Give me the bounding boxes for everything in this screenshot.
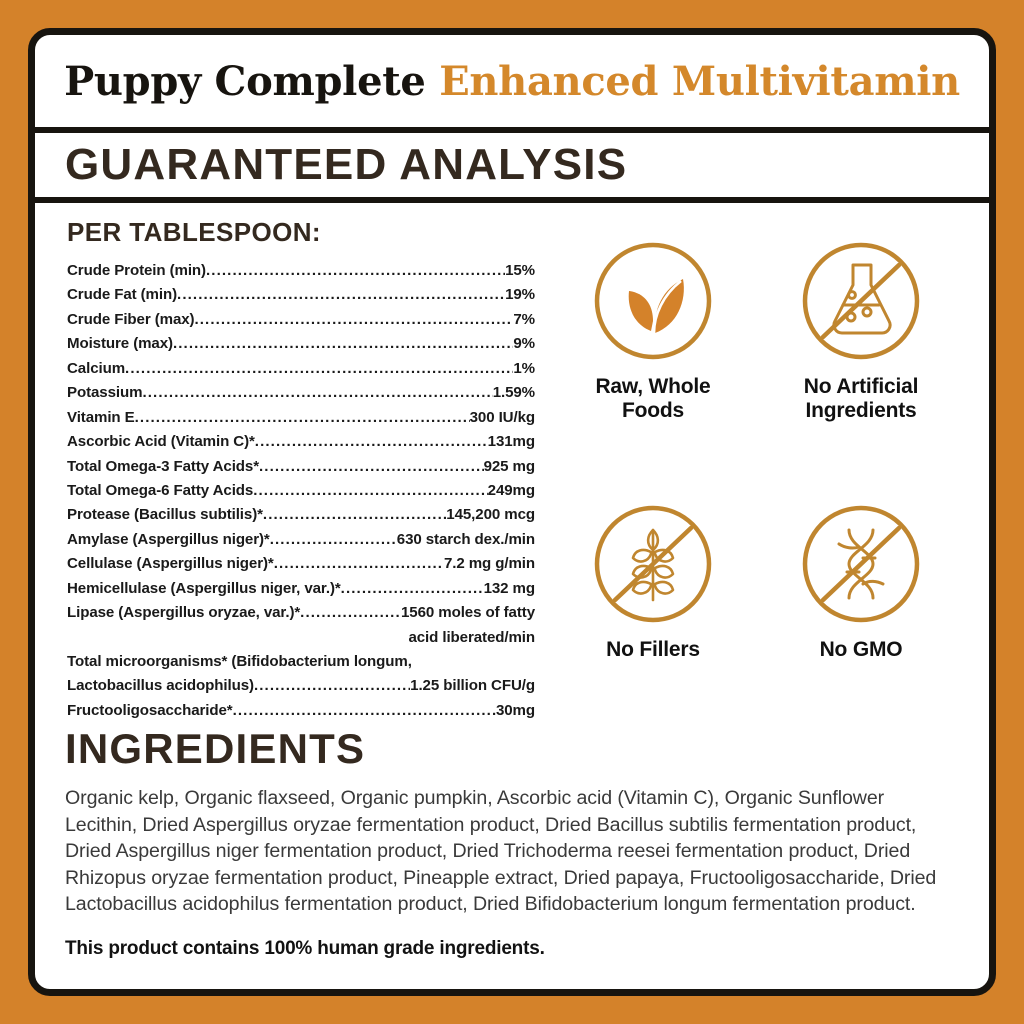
nutrient-name: Lactobacillus acidophilus) xyxy=(67,674,254,698)
fructooligosaccharide-row: Fructooligosaccharide*..................… xyxy=(67,699,535,723)
dot-leader: ........................................… xyxy=(300,601,401,625)
nutrient-panel: PER TABLESPOON: Crude Protein (min).....… xyxy=(35,217,535,723)
nutrient-name: Potassium xyxy=(67,381,142,405)
nutrient-value: 19% xyxy=(505,283,535,307)
badge-no-gmo: No GMO xyxy=(757,502,965,723)
nutrient-name: Cellulase (Aspergillus niger)* xyxy=(67,552,274,576)
nutrient-value: 132 mg xyxy=(484,577,535,601)
title-primary-text: Puppy Complete xyxy=(64,58,425,105)
no-flask-icon xyxy=(799,239,923,363)
nutrient-row: Lipase (Aspergillus oryzae, var.)*......… xyxy=(67,601,535,625)
feature-badge-grid: Raw, Whole Foods No Artificial Ingredien… xyxy=(535,217,989,723)
dot-leader: ........................................… xyxy=(177,283,505,307)
guaranteed-analysis-heading: GUARANTEED ANALYSIS xyxy=(65,140,627,190)
dot-leader: ........................................… xyxy=(125,357,513,381)
nutrient-row: Protease (Bacillus subtilis)*...........… xyxy=(67,503,535,527)
dot-leader: ........................................… xyxy=(135,406,470,430)
dot-leader: ........................................… xyxy=(270,528,397,552)
nutrient-row: Total Omega-6 Fatty Acids...............… xyxy=(67,479,535,503)
nutrient-value: 131mg xyxy=(488,430,535,454)
nutrient-value: 145,200 mcg xyxy=(446,503,535,527)
badge-no-fillers: No Fillers xyxy=(549,502,757,723)
dot-leader: ........................................… xyxy=(206,259,505,283)
guaranteed-analysis-bar: GUARANTEED ANALYSIS xyxy=(35,133,989,203)
ingredients-section: INGREDIENTS Organic kelp, Organic flaxse… xyxy=(35,723,989,959)
nutrient-name: Lipase (Aspergillus oryzae, var.)* xyxy=(67,601,300,625)
nutrient-value: 1560 moles of fatty xyxy=(401,601,535,625)
nutrient-row: Moisture (max)..........................… xyxy=(67,332,535,356)
nutrient-value: 15% xyxy=(505,259,535,283)
nutrient-name: Calcium xyxy=(67,357,125,381)
nutrient-name: Fructooligosaccharide* xyxy=(67,699,233,723)
nutrient-value: 7% xyxy=(513,308,535,332)
nutrient-row: Total Omega-3 Fatty Acids*..............… xyxy=(67,455,535,479)
nutrient-value: 7.2 mg g/min xyxy=(444,552,535,576)
analysis-body: PER TABLESPOON: Crude Protein (min).....… xyxy=(35,203,989,723)
nutrient-value: 1% xyxy=(513,357,535,381)
dot-leader: ........................................… xyxy=(173,332,513,356)
nutrient-name: Total Omega-6 Fatty Acids xyxy=(67,479,253,503)
badge-label: No Fillers xyxy=(606,638,700,662)
dot-leader: ........................................… xyxy=(254,674,410,698)
ingredients-heading: INGREDIENTS xyxy=(65,725,959,773)
product-title-bar: Puppy Complete Enhanced Multivitamin xyxy=(35,35,989,133)
dot-leader: ........................................… xyxy=(255,430,488,454)
nutrient-name: Crude Fiber (max) xyxy=(67,308,194,332)
dot-leader: ........................................… xyxy=(341,577,484,601)
nutrient-name: Vitamin E xyxy=(67,406,135,430)
serving-basis-label: PER TABLESPOON: xyxy=(67,217,535,248)
page-title: Puppy Complete Enhanced Multivitamin xyxy=(64,58,960,105)
nutrient-row: Ascorbic Acid (Vitamin C)*..............… xyxy=(67,430,535,454)
nutrient-value: 925 mg xyxy=(484,455,535,479)
badge-label: No GMO xyxy=(820,638,903,662)
nutrient-name: Hemicellulase (Aspergillus niger, var.)* xyxy=(67,577,341,601)
nutrient-row: Potassium...............................… xyxy=(67,381,535,405)
nutrient-row: Vitamin E...............................… xyxy=(67,406,535,430)
supplement-label-card: Puppy Complete Enhanced Multivitamin GUA… xyxy=(28,28,996,996)
nutrient-value: 630 starch dex./min xyxy=(397,528,535,552)
badge-label: Raw, Whole Foods xyxy=(595,375,710,422)
nutrient-value: 30mg xyxy=(496,699,535,723)
nutrient-name: Ascorbic Acid (Vitamin C)* xyxy=(67,430,255,454)
microorganisms-line-1: Total microorganisms* (Bifidobacterium l… xyxy=(67,650,535,674)
nutrient-value: 1.25 billion CFU/g xyxy=(410,674,535,698)
dot-leader: ........................................… xyxy=(233,699,496,723)
nutrient-name: Protease (Bacillus subtilis)* xyxy=(67,503,263,527)
human-grade-note: This product contains 100% human grade i… xyxy=(65,938,959,960)
nutrient-value: 9% xyxy=(513,332,535,356)
nutrient-row: Hemicellulase (Aspergillus niger, var.)*… xyxy=(67,577,535,601)
badge-label: No Artificial Ingredients xyxy=(804,375,918,422)
nutrient-row: Calcium.................................… xyxy=(67,357,535,381)
dot-leader: ........................................… xyxy=(194,308,513,332)
microorganisms-line-2: Lactobacillus acidophilus)..............… xyxy=(67,674,535,698)
nutrient-name: Total Omega-3 Fatty Acids* xyxy=(67,455,259,479)
nutrient-name: Crude Fat (min) xyxy=(67,283,177,307)
nutrient-value: 300 IU/kg xyxy=(470,406,535,430)
nutrient-list: Crude Protein (min).....................… xyxy=(67,259,535,723)
ingredients-body: Organic kelp, Organic flaxseed, Organic … xyxy=(65,785,959,917)
nutrient-value: 1.59% xyxy=(493,381,535,405)
nutrient-row: Cellulase (Aspergillus niger)*..........… xyxy=(67,552,535,576)
no-wheat-icon xyxy=(591,502,715,626)
nutrient-value: 249mg xyxy=(488,479,535,503)
dot-leader: ........................................… xyxy=(142,381,492,405)
nutrient-name: Crude Protein (min) xyxy=(67,259,206,283)
dot-leader: ........................................… xyxy=(259,455,484,479)
dot-leader: ........................................… xyxy=(274,552,444,576)
title-accent-text: Enhanced Multivitamin xyxy=(439,58,960,105)
dot-leader: ........................................… xyxy=(253,479,487,503)
nutrient-name: Amylase (Aspergillus niger)* xyxy=(67,528,270,552)
badge-no-artificial-ingredients: No Artificial Ingredients xyxy=(757,239,965,484)
nutrient-row: Crude Fiber (max).......................… xyxy=(67,308,535,332)
nutrient-row: Amylase (Aspergillus niger)*............… xyxy=(67,528,535,552)
nutrient-name: Moisture (max) xyxy=(67,332,173,356)
no-dna-icon xyxy=(799,502,923,626)
lipase-continuation: acid liberated/min xyxy=(67,626,535,650)
nutrient-row: Crude Fat (min).........................… xyxy=(67,283,535,307)
leaves-icon xyxy=(591,239,715,363)
nutrient-row: Crude Protein (min).....................… xyxy=(67,259,535,283)
badge-raw-whole-foods: Raw, Whole Foods xyxy=(549,239,757,484)
dot-leader: ........................................… xyxy=(263,503,446,527)
